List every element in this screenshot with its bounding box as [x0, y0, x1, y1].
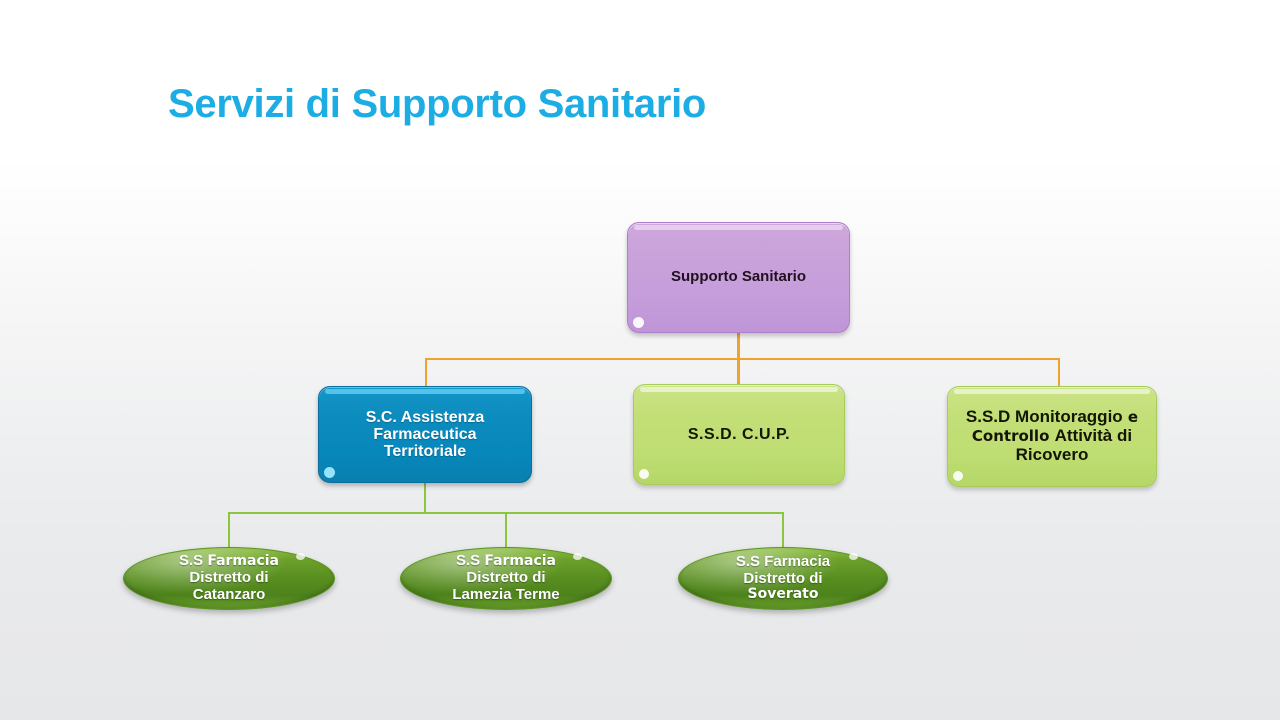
soverato-line-1-thin: Farmacia [764, 553, 830, 570]
monitoring-line-3: Ricovero [948, 446, 1156, 465]
monitoring-line-1-main: S.S.D Monitoraggio [966, 407, 1123, 426]
lamezia-line-3: Lamezia Terme [411, 587, 601, 604]
lamezia-line-1: S.S Farmacia [411, 553, 601, 570]
node-farmacia-soverato-label: S.S Farmacia Distretto di Soverato [679, 554, 887, 603]
node-supporto-sanitario[interactable]: Supporto Sanitario [627, 222, 850, 333]
catanzaro-line-1: S.S Farmacia [134, 553, 324, 570]
node-farmacia-soverato[interactable]: S.S Farmacia Distretto di Soverato [678, 547, 888, 610]
lamezia-line-1-thin: Farmacia [484, 553, 556, 569]
monitoring-line-2-thin: Controllo [972, 427, 1055, 445]
connector-to-pharmacy [425, 358, 427, 387]
catanzaro-line-1-thin: Farmacia [207, 553, 279, 569]
lamezia-line-1-main: S.S [456, 552, 484, 569]
connector-to-lamezia [505, 512, 507, 550]
node-farmacia-catanzaro-label: S.S Farmacia Distretto di Catanzaro [124, 553, 334, 603]
catanzaro-line-3: Catanzaro [134, 587, 324, 604]
soverato-line-1-main: S.S [736, 553, 764, 570]
slide-canvas: Servizi di Supporto Sanitario Supporto S… [0, 0, 1280, 720]
catanzaro-line-1-main: S.S [179, 552, 207, 569]
soverato-line-2: Distretto di [689, 571, 877, 588]
soverato-line-3: Soverato [689, 587, 877, 603]
pharmacy-line-2: Farmaceutica [325, 426, 525, 443]
node-supporto-sanitario-label: Supporto Sanitario [628, 269, 849, 285]
connector-pharmacy-stem [424, 483, 426, 513]
node-assistenza-farmaceutica-label: S.C. Assistenza Farmaceutica Territorial… [319, 409, 531, 461]
monitoring-line-2: Controllo Attività di [948, 427, 1156, 446]
lamezia-line-2: Distretto di [411, 570, 601, 587]
connector-to-monitoring [1058, 358, 1060, 387]
node-farmacia-catanzaro[interactable]: S.S Farmacia Distretto di Catanzaro [123, 547, 335, 610]
monitoring-line-1: S.S.D Monitoraggio e [948, 408, 1156, 427]
connector-to-soverato [782, 512, 784, 550]
connector-level1-bus [425, 358, 1060, 360]
node-farmacia-lamezia-terme-label: S.S Farmacia Distretto di Lamezia Terme [401, 553, 611, 603]
monitoring-line-1-thin: e [1123, 408, 1138, 426]
connector-to-catanzaro [228, 512, 230, 550]
catanzaro-line-2: Distretto di [134, 570, 324, 587]
connector-to-cup [737, 358, 740, 385]
pharmacy-line-1: S.C. Assistenza [325, 409, 525, 426]
page-title: Servizi di Supporto Sanitario [168, 82, 706, 127]
monitoring-line-2-main: Attività di [1055, 426, 1132, 445]
node-ssd-monitoraggio[interactable]: S.S.D Monitoraggio e Controllo Attività … [947, 386, 1157, 487]
node-assistenza-farmaceutica[interactable]: S.C. Assistenza Farmaceutica Territorial… [318, 386, 532, 483]
node-ssd-monitoraggio-label: S.S.D Monitoraggio e Controllo Attività … [948, 408, 1156, 464]
node-farmacia-lamezia-terme[interactable]: S.S Farmacia Distretto di Lamezia Terme [400, 547, 612, 610]
node-ssd-cup-label: S.S.D. C.U.P. [634, 426, 844, 443]
soverato-line-1: S.S Farmacia [689, 554, 877, 571]
connector-root-stem [737, 332, 740, 360]
node-ssd-cup[interactable]: S.S.D. C.U.P. [633, 384, 845, 485]
pharmacy-line-3: Territoriale [325, 443, 525, 460]
